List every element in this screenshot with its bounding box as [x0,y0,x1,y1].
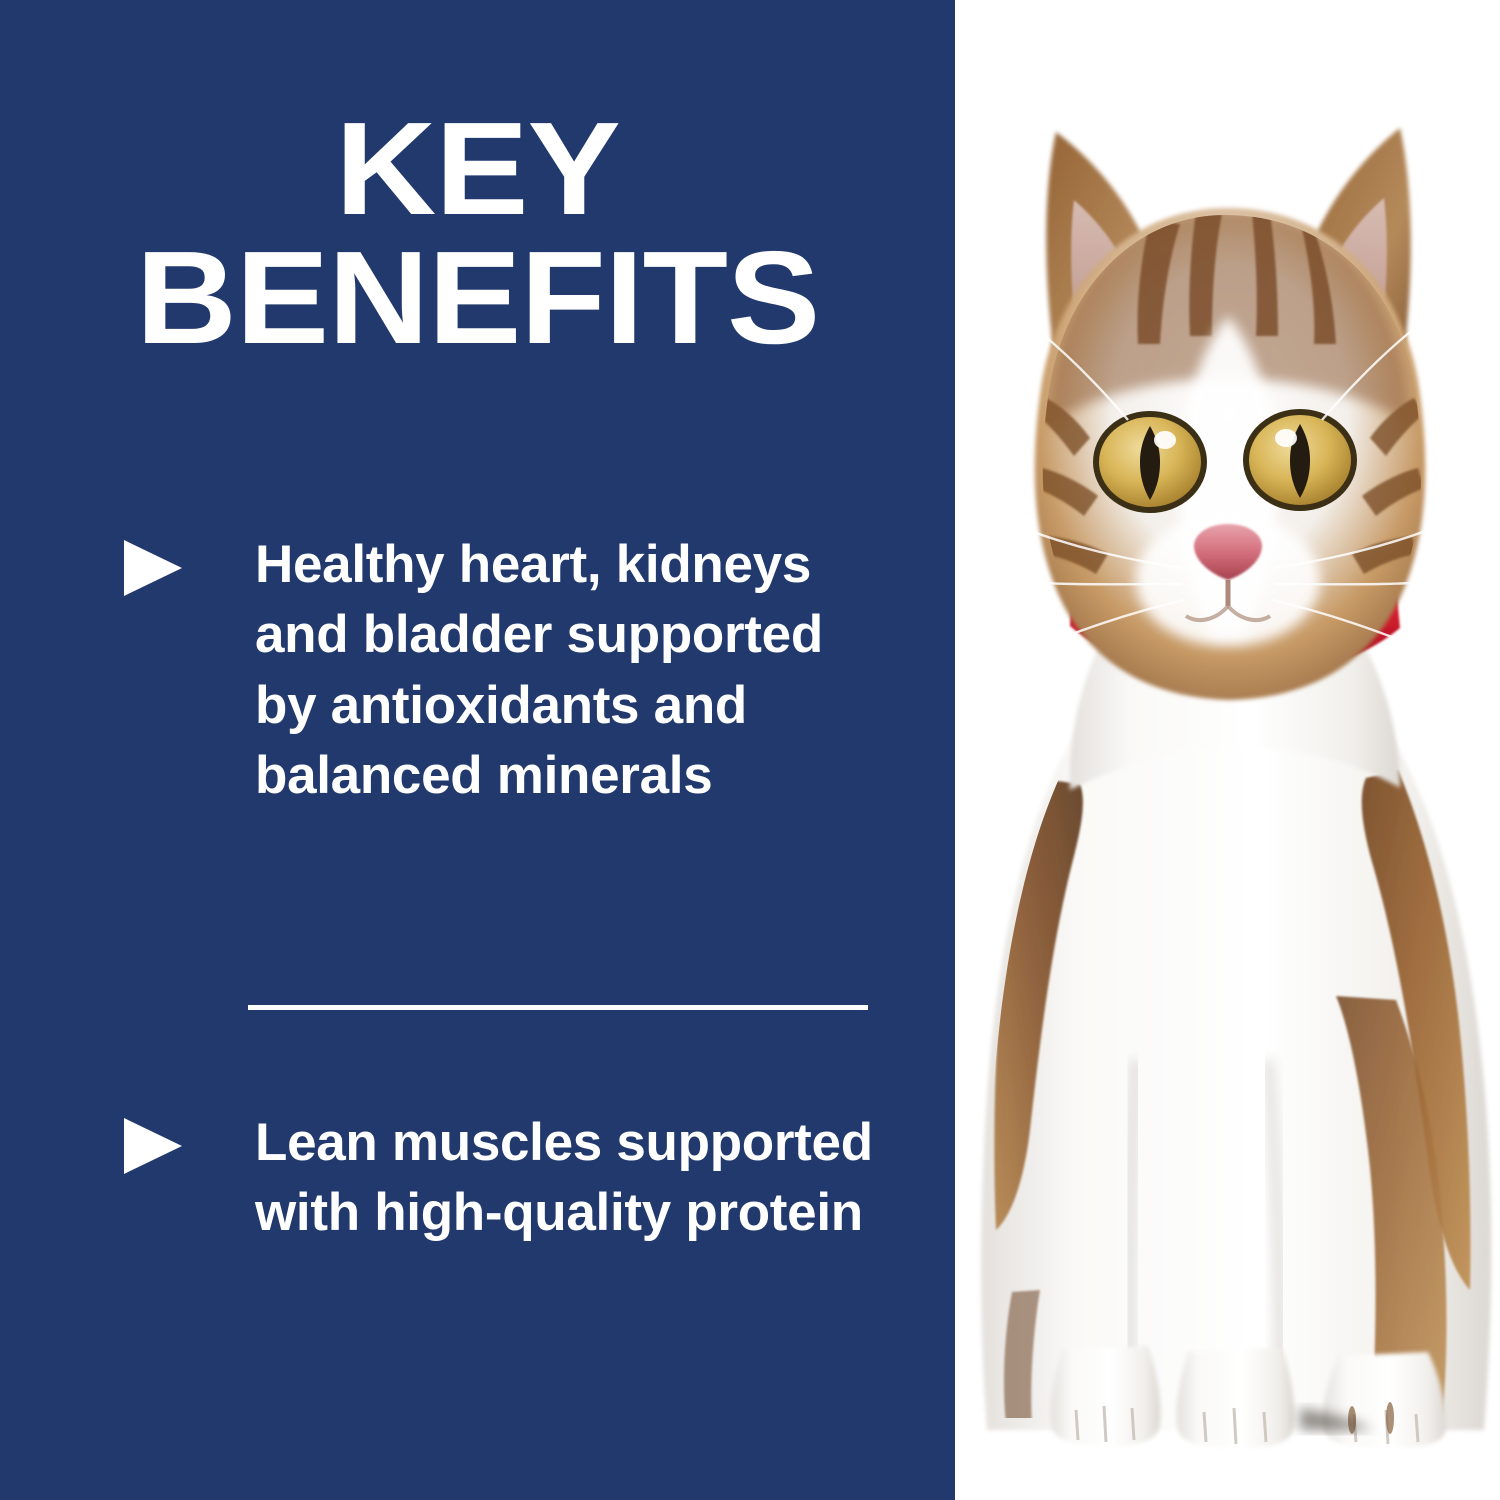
key-benefits-graphic: KEY BENEFITS Healthy heart, kidneys and … [0,0,1500,1500]
benefits-panel: KEY BENEFITS Healthy heart, kidneys and … [0,0,955,1500]
cat-paws [1050,1346,1446,1448]
cat-photo [955,0,1500,1500]
benefit-item: Lean muscles supported with high-quality… [124,1108,875,1249]
benefit-item-text: Healthy heart, kidneys and bladder suppo… [255,530,875,812]
triangle-bullet-icon [124,1118,182,1174]
benefit-item-text: Lean muscles supported with high-quality… [255,1108,875,1249]
benefit-list: Healthy heart, kidneys and bladder suppo… [0,0,955,1500]
cat-muzzle [1136,514,1320,646]
benefit-divider [248,1005,868,1010]
benefit-item: Healthy heart, kidneys and bladder suppo… [124,530,875,812]
triangle-bullet-icon [124,540,182,596]
product-photo-area [955,0,1500,1500]
